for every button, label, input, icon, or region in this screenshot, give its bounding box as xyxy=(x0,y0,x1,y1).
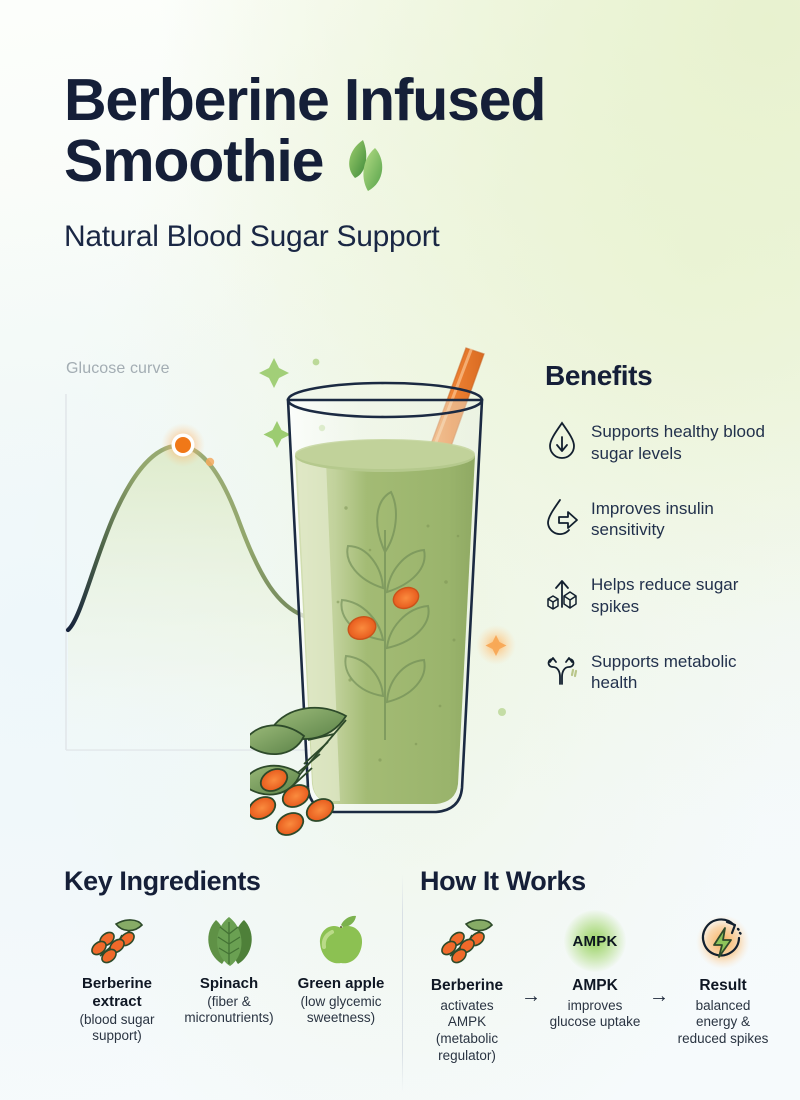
flow-step-desc: balanced energy & reduced spikes xyxy=(676,998,770,1049)
benefits-section: Benefits Supports healthy blood sugar le… xyxy=(545,360,775,724)
benefit-item[interactable]: Improves insulin sensitivity xyxy=(545,495,775,542)
ingredient-desc: (low glycemic sweetness) xyxy=(288,994,394,1027)
ampk-badge-icon: AMPK xyxy=(563,915,627,967)
benefit-label: Improves insulin sensitivity xyxy=(591,495,775,542)
goji-berry xyxy=(250,793,279,824)
benefit-item[interactable]: Supports metabolic health xyxy=(545,648,775,695)
leaf-pair-icon xyxy=(341,134,395,194)
flow-icon-slot: AMPK xyxy=(548,913,642,969)
ampk-badge-label: AMPK xyxy=(573,933,618,950)
berberine-berries-icon xyxy=(436,914,498,968)
spinach-leaves-icon xyxy=(200,914,258,968)
ingredient-icon-slot xyxy=(64,913,170,969)
droplet-down-arrow-icon xyxy=(545,420,579,460)
green-apple-icon xyxy=(314,914,368,968)
panel-divider xyxy=(402,874,403,1092)
smoothie-illustration xyxy=(250,340,540,850)
flow-step-name: Berberine xyxy=(420,977,514,996)
ingredient-icon-slot xyxy=(176,913,282,969)
smoothie-surface-top xyxy=(295,439,475,469)
metabolism-arrows-icon xyxy=(545,650,579,690)
flow-step[interactable]: Berberine activates AMPK (metabolic regu… xyxy=(420,913,514,1065)
title-line-2: Smoothie xyxy=(64,133,323,191)
how-it-works-title: How It Works xyxy=(420,866,770,897)
benefit-item[interactable]: Supports healthy blood sugar levels xyxy=(545,418,775,465)
ingredient-item[interactable]: Spinach (fiber & micronutrients) xyxy=(176,913,282,1045)
benefit-label: Helps reduce sugar spikes xyxy=(591,571,775,618)
ingredients-row: Berberine extract (blood sugar support) xyxy=(64,913,394,1045)
flow-icon-slot xyxy=(420,913,514,969)
dot-accent xyxy=(498,708,506,716)
poster-header: Berberine Infused Smoothie xyxy=(64,72,764,254)
flow-step-desc: activates AMPK (metabolic regulator) xyxy=(420,998,514,1066)
ingredient-name: Berberine extract xyxy=(64,975,170,1011)
benefits-title: Benefits xyxy=(545,360,775,392)
flow-row: Berberine activates AMPK (metabolic regu… xyxy=(420,913,770,1065)
ingredient-item[interactable]: Green apple (low glycemic sweetness) xyxy=(288,913,394,1045)
key-ingredients-title: Key Ingredients xyxy=(64,866,394,897)
title-line-2-row: Smoothie xyxy=(64,130,764,194)
hero-section: Glucose curve xyxy=(0,340,800,860)
flow-step[interactable]: AMPK AMPK improves glucose uptake xyxy=(548,913,642,1031)
berberine-berries-icon xyxy=(86,914,148,968)
sugar-cubes-up-arrow-icon xyxy=(545,573,579,613)
how-it-works-panel: How It Works xyxy=(420,866,770,1065)
dot-accent-orange xyxy=(206,458,214,466)
droplet-right-arrow-icon xyxy=(545,497,579,537)
flow-arrow-1: → xyxy=(514,913,548,1008)
benefit-item[interactable]: Helps reduce sugar spikes xyxy=(545,571,775,618)
dot-accent xyxy=(313,359,320,366)
benefit-label: Supports metabolic health xyxy=(591,648,775,695)
flow-icon-slot xyxy=(676,913,770,969)
ingredient-desc: (fiber & micronutrients) xyxy=(176,994,282,1027)
benefit-label: Supports healthy blood sugar levels xyxy=(591,418,775,465)
ingredient-desc: (blood sugar support) xyxy=(64,1012,170,1045)
page-title: Berberine Infused Smoothie xyxy=(64,72,764,194)
flow-step-name: Result xyxy=(676,977,770,996)
infographic-poster: Berberine Infused Smoothie xyxy=(0,0,800,1100)
sparkle-icon xyxy=(259,358,289,388)
key-ingredients-panel: Key Ingredients xyxy=(64,866,394,1045)
peak-marker-dot[interactable] xyxy=(175,437,191,453)
page-subtitle: Natural Blood Sugar Support xyxy=(64,220,764,254)
lightning-cycle-icon xyxy=(694,913,752,969)
flow-step-name: AMPK xyxy=(548,977,642,996)
title-line-1: Berberine Infused xyxy=(64,72,764,130)
goji-berry xyxy=(273,809,307,840)
chart-title: Glucose curve xyxy=(66,360,170,378)
flow-step-desc: improves glucose uptake xyxy=(548,998,642,1032)
ingredient-name: Green apple xyxy=(288,975,394,993)
flow-arrow-2: → xyxy=(642,913,676,1008)
sprig-leaf xyxy=(250,725,304,754)
ingredient-item[interactable]: Berberine extract (blood sugar support) xyxy=(64,913,170,1045)
flow-step[interactable]: Result balanced energy & reduced spikes xyxy=(676,913,770,1048)
ingredient-name: Spinach xyxy=(176,975,282,993)
ingredient-icon-slot xyxy=(288,913,394,969)
bottom-panels: Key Ingredients xyxy=(0,866,800,1100)
